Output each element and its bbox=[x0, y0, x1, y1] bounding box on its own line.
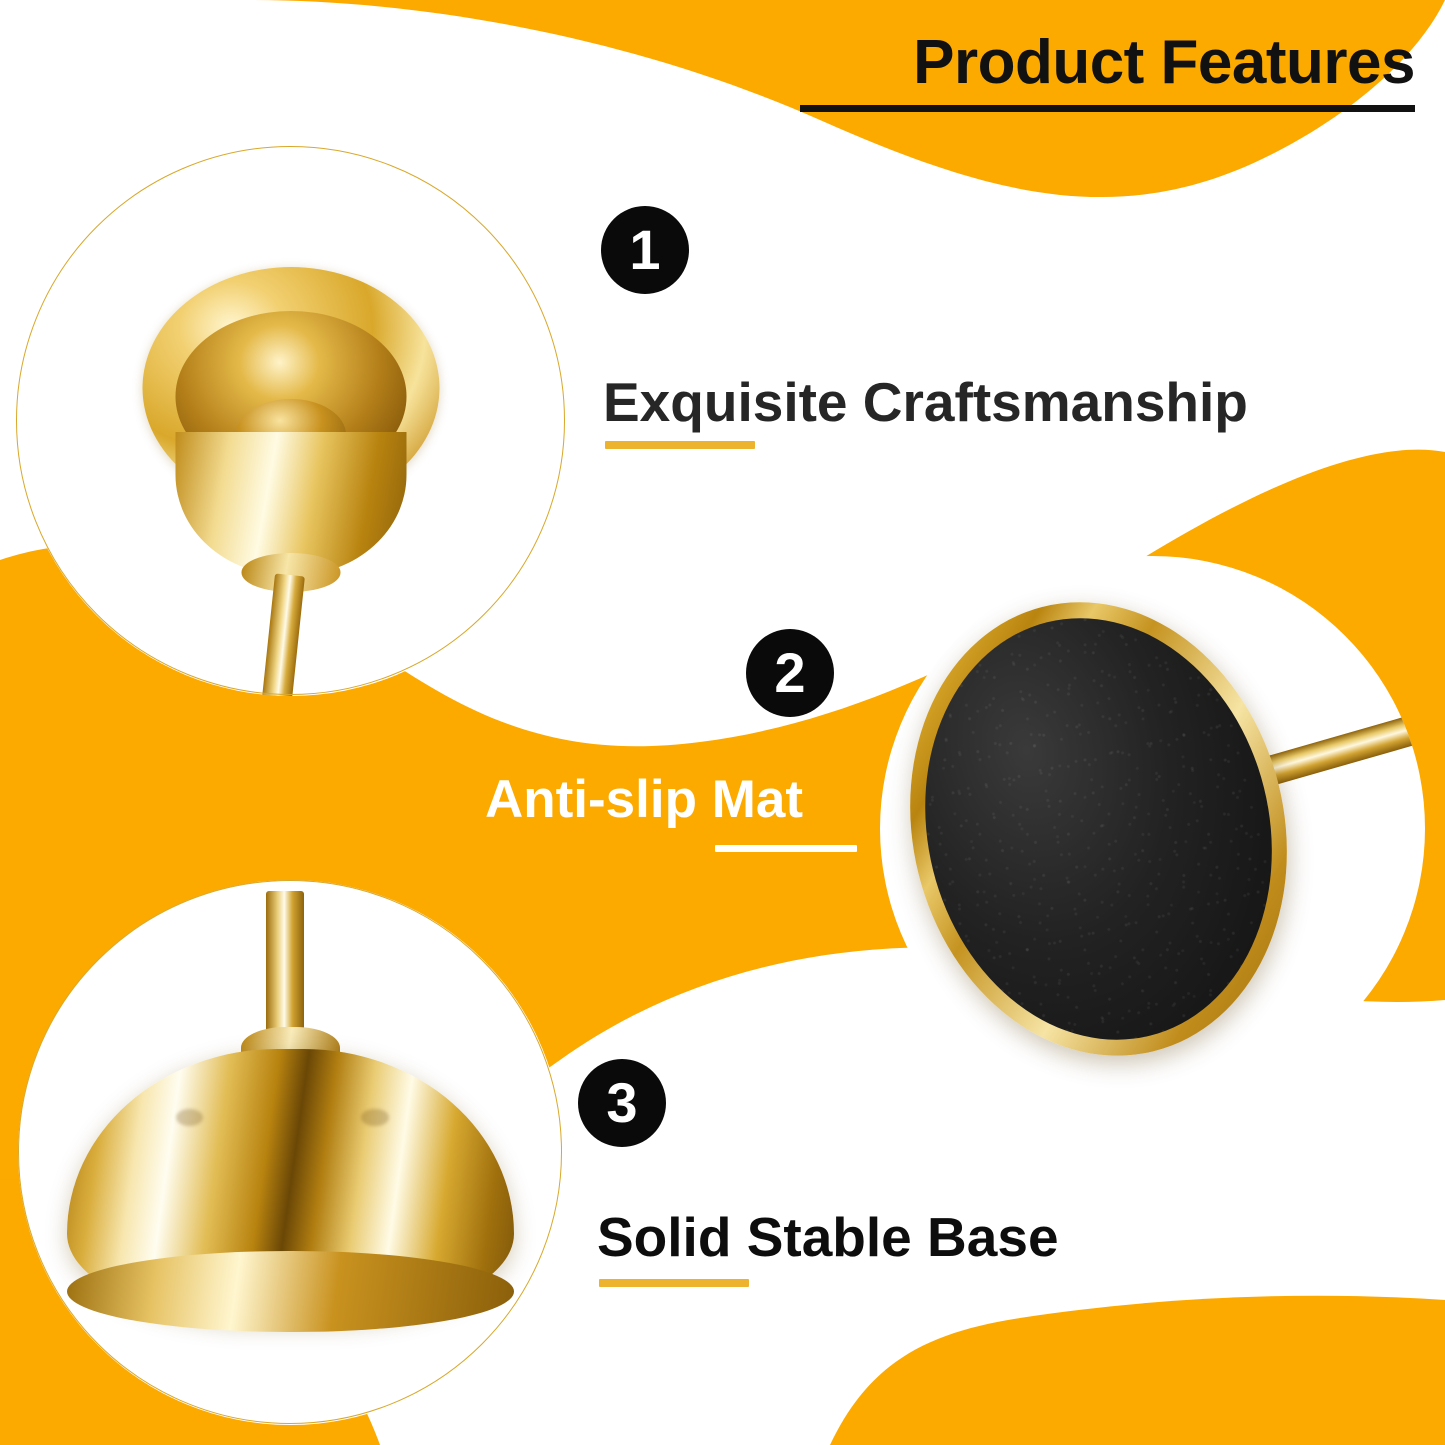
feature-label-1: Exquisite Craftsmanship bbox=[603, 370, 1248, 434]
feature-underline-1 bbox=[605, 441, 755, 449]
page-title-block: Product Features bbox=[800, 30, 1415, 112]
base-dimple-right bbox=[361, 1109, 388, 1126]
base-stem bbox=[266, 891, 304, 1044]
base-bottom-rim bbox=[67, 1251, 514, 1333]
feature-badge-2: 2 bbox=[746, 629, 834, 717]
mat-gold-disc bbox=[880, 562, 1333, 1096]
page-title: Product Features bbox=[800, 30, 1415, 95]
feature-underline-3 bbox=[599, 1279, 749, 1287]
feature-label-3: Solid Stable Base bbox=[597, 1205, 1059, 1269]
feature-photo-craftsmanship bbox=[16, 146, 566, 696]
candle-cup-image bbox=[16, 146, 566, 696]
feature-underline-2 bbox=[715, 845, 857, 852]
orange-blob-bottom-right bbox=[830, 1296, 1445, 1445]
conical-base-image bbox=[18, 880, 563, 1425]
anti-slip-mat-image bbox=[880, 556, 1425, 1101]
feature-badge-1: 1 bbox=[601, 206, 689, 294]
feature-photo-antislip-mat bbox=[880, 556, 1425, 1101]
cup-stem bbox=[260, 573, 305, 696]
feature-badge-3: 3 bbox=[578, 1059, 666, 1147]
feature-photo-solid-base bbox=[18, 880, 563, 1425]
feature-label-2: Anti-slip Mat bbox=[485, 769, 803, 830]
product-features-infographic: Product Features 1 Exquisite Craftsmansh… bbox=[0, 0, 1445, 1445]
mat-black-felt bbox=[881, 581, 1315, 1077]
title-underline-rule bbox=[800, 105, 1415, 112]
